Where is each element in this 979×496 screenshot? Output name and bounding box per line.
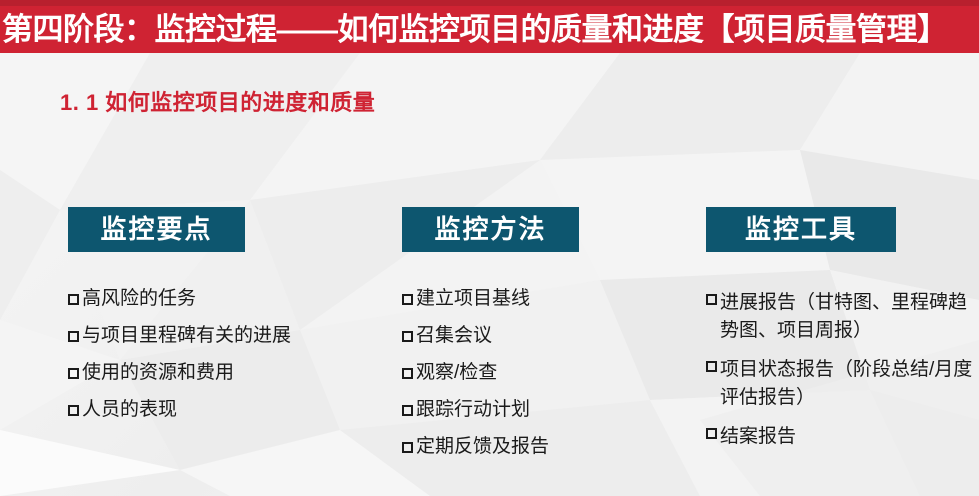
hollow-square-bullet-icon [68, 405, 79, 416]
hollow-square-bullet-icon [402, 331, 413, 342]
list-item: 建立项目基线 [402, 289, 692, 308]
column-1-heading: 监控要点 [68, 207, 245, 252]
hollow-square-bullet-icon [68, 331, 79, 342]
hollow-square-bullet-icon [402, 442, 413, 453]
list-item: 项目状态报告（阶段总结/月度评估报告） [706, 356, 974, 411]
list-item: 结案报告 [706, 423, 974, 451]
slide-canvas: 第四阶段：监控过程——如何监控项目的质量和进度【项目质量管理】 1. 1 如何监… [0, 0, 979, 496]
list-item: 人员的表现 [68, 400, 368, 419]
list-item-label: 结案报告 [720, 423, 974, 451]
list-item: 进展报告（甘特图、里程碑趋势图、项目周报） [706, 289, 974, 344]
list-item-label: 与项目里程碑有关的进展 [82, 326, 368, 345]
hollow-square-bullet-icon [706, 428, 717, 439]
list-item: 定期反馈及报告 [402, 437, 692, 456]
hollow-square-bullet-icon [706, 294, 717, 305]
list-item-label: 定期反馈及报告 [416, 437, 692, 456]
column-1-bullet-list: 高风险的任务 与项目里程碑有关的进展 使用的资源和费用 人员的表现 [68, 289, 368, 419]
hollow-square-bullet-icon [402, 405, 413, 416]
list-item-label: 人员的表现 [82, 400, 368, 419]
list-item: 跟踪行动计划 [402, 400, 692, 419]
list-item-label: 使用的资源和费用 [82, 363, 368, 382]
column-monitoring-tools: 监控工具 进展报告（甘特图、里程碑趋势图、项目周报） 项目状态报告（阶段总结/月… [706, 207, 974, 463]
list-item-label: 建立项目基线 [416, 289, 692, 308]
column-2-heading: 监控方法 [402, 207, 579, 252]
list-item: 高风险的任务 [68, 289, 368, 308]
list-item-label: 召集会议 [416, 326, 692, 345]
hollow-square-bullet-icon [402, 294, 413, 305]
list-item: 召集会议 [402, 326, 692, 345]
column-monitoring-methods: 监控方法 建立项目基线 召集会议 观察/检查 跟踪行动计划 定期反馈及报告 [402, 207, 692, 474]
hollow-square-bullet-icon [68, 368, 79, 379]
list-item: 使用的资源和费用 [68, 363, 368, 382]
list-item-label: 项目状态报告（阶段总结/月度评估报告） [720, 356, 974, 411]
hollow-square-bullet-icon [402, 368, 413, 379]
title-band: 第四阶段：监控过程——如何监控项目的质量和进度【项目质量管理】 [0, 6, 979, 53]
hollow-square-bullet-icon [68, 294, 79, 305]
list-item-label: 跟踪行动计划 [416, 400, 692, 419]
list-item: 与项目里程碑有关的进展 [68, 326, 368, 345]
column-3-bullet-list: 进展报告（甘特图、里程碑趋势图、项目周报） 项目状态报告（阶段总结/月度评估报告… [706, 289, 974, 451]
column-monitoring-key-points: 监控要点 高风险的任务 与项目里程碑有关的进展 使用的资源和费用 人员的表现 [68, 207, 368, 437]
list-item-label: 观察/检查 [416, 363, 692, 382]
list-item-label: 进展报告（甘特图、里程碑趋势图、项目周报） [720, 289, 974, 344]
page-title: 第四阶段：监控过程——如何监控项目的质量和进度【项目质量管理】 [2, 14, 948, 45]
list-item-label: 高风险的任务 [82, 289, 368, 308]
hollow-square-bullet-icon [706, 361, 717, 372]
section-subtitle: 1. 1 如何监控项目的进度和质量 [60, 85, 375, 117]
column-3-heading: 监控工具 [706, 207, 896, 252]
column-2-bullet-list: 建立项目基线 召集会议 观察/检查 跟踪行动计划 定期反馈及报告 [402, 289, 692, 456]
list-item: 观察/检查 [402, 363, 692, 382]
